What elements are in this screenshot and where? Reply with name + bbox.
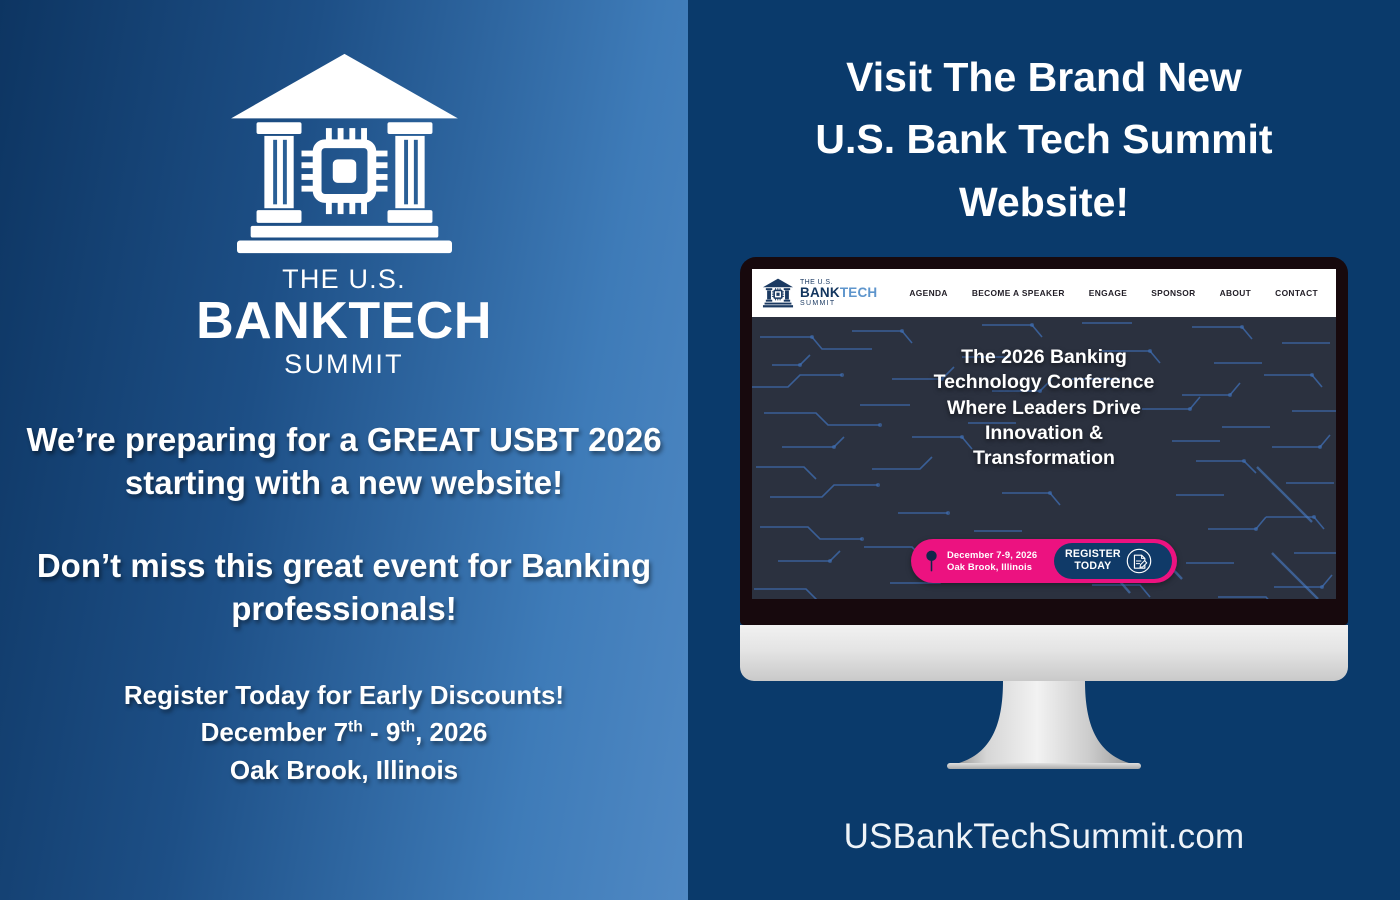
date-year: , 2026 (415, 717, 487, 747)
summit-logo-wordmark: THE U.S. BANKTECH SUMMIT (196, 265, 492, 379)
date-separator: - (370, 717, 379, 747)
heading-line-1: Visit The Brand New (724, 46, 1364, 108)
promo-poster: THE U.S. BANKTECH SUMMIT We’re preparing… (0, 0, 1400, 900)
logo-line-banktech: BANKTECH (196, 293, 492, 349)
event-date-line: December 7th - 9th, 2026 (24, 714, 664, 751)
nav-item-about[interactable]: ABOUT (1220, 288, 1252, 298)
heading-line-2: U.S. Bank Tech Summit (724, 108, 1364, 170)
left-copy: We’re preparing for a GREAT USBT 2026 st… (24, 379, 664, 789)
location-pin-icon (925, 550, 938, 572)
website-logo-text: THE U.S. BANKTECH SUMMIT (800, 279, 877, 307)
website-logo-bank: BANK (800, 285, 840, 300)
date-ordinal-start: th (348, 719, 363, 736)
register-today-button[interactable]: REGISTER TODAY (1054, 543, 1172, 579)
cta-event-info: December 7-9, 2026 Oak Brook, Illinois (947, 549, 1037, 573)
hero-headline: The 2026 Banking Technology Conference W… (752, 345, 1336, 472)
paragraph-b-line-1: Don’t miss this great event for (37, 547, 512, 584)
monitor-stand-neck (929, 681, 1159, 773)
desktop-monitor-icon: THE U.S. BANKTECH SUMMIT AGENDA BECOME A… (740, 257, 1348, 777)
register-today-line: Register Today for Early Discounts! (24, 677, 664, 714)
hero-line-5: Transformation (752, 446, 1336, 471)
date-month: December (201, 717, 327, 747)
website-logo-line-banktech: BANKTECH (800, 286, 877, 300)
date-day-start: 7 (334, 717, 348, 747)
monitor-screen: THE U.S. BANKTECH SUMMIT AGENDA BECOME A… (752, 269, 1336, 599)
logo-line-the-us: THE U.S. (196, 265, 492, 293)
heading-line-3: Website! (724, 171, 1364, 233)
bank-building-chip-icon (762, 277, 794, 309)
register-button-line-2: TODAY (1065, 561, 1121, 573)
cta-date: December 7-9, 2026 (947, 549, 1037, 561)
hero-line-1: The 2026 Banking (752, 345, 1336, 370)
nav-item-sponsor[interactable]: SPONSOR (1151, 288, 1195, 298)
cta-location: Oak Brook, Illinois (947, 561, 1037, 573)
logo-line-summit: SUMMIT (196, 350, 492, 380)
website-url[interactable]: USBankTechSummit.com (844, 817, 1245, 857)
hero-cta-bar: December 7-9, 2026 Oak Brook, Illinois R… (911, 539, 1177, 583)
website-logo[interactable]: THE U.S. BANKTECH SUMMIT (762, 277, 877, 309)
summit-logo: THE U.S. BANKTECH SUMMIT (179, 46, 509, 379)
date-day-end: 9 (386, 717, 400, 747)
paragraph-a-line-3: with a new website! (255, 464, 563, 501)
left-panel: THE U.S. BANKTECH SUMMIT We’re preparing… (0, 0, 688, 900)
paragraph-preparing: We’re preparing for a GREAT USBT 2026 st… (24, 419, 664, 505)
paragraph-a-line-1: We’re preparing for a GREAT (26, 421, 480, 458)
event-location-line: Oak Brook, Illinois (24, 752, 664, 789)
nav-item-engage[interactable]: ENGAGE (1089, 288, 1127, 298)
nav-item-contact[interactable]: CONTACT (1275, 288, 1318, 298)
date-ordinal-end: th (400, 719, 415, 736)
hero-line-4: Innovation & (752, 421, 1336, 446)
monitor-stand (879, 681, 1209, 777)
event-details: Register Today for Early Discounts! Dece… (24, 677, 664, 789)
nav-item-become-a-speaker[interactable]: BECOME A SPEAKER (972, 288, 1065, 298)
paragraph-dont-miss: Don’t miss this great event for Banking … (24, 545, 664, 631)
website-logo-tech: TECH (840, 285, 878, 300)
hero-line-2: Technology Conference (752, 370, 1336, 395)
bank-building-chip-icon (227, 46, 462, 261)
monitor-chin (740, 625, 1348, 681)
website-logo-line-summit: SUMMIT (800, 300, 877, 307)
monitor-bezel: THE U.S. BANKTECH SUMMIT AGENDA BECOME A… (740, 257, 1348, 625)
website-nav-bar: THE U.S. BANKTECH SUMMIT AGENDA BECOME A… (752, 269, 1336, 317)
register-today-label: REGISTER TODAY (1065, 549, 1121, 573)
nav-item-agenda[interactable]: AGENDA (909, 288, 947, 298)
website-hero: The 2026 Banking Technology Conference W… (752, 317, 1336, 599)
register-document-icon (1126, 548, 1152, 574)
right-panel: Visit The Brand New U.S. Bank Tech Summi… (688, 0, 1400, 900)
visit-website-heading: Visit The Brand New U.S. Bank Tech Summi… (724, 46, 1364, 233)
hero-line-3: Where Leaders Drive (752, 396, 1336, 421)
website-nav-items: AGENDA BECOME A SPEAKER ENGAGE SPONSOR A… (877, 288, 1330, 298)
